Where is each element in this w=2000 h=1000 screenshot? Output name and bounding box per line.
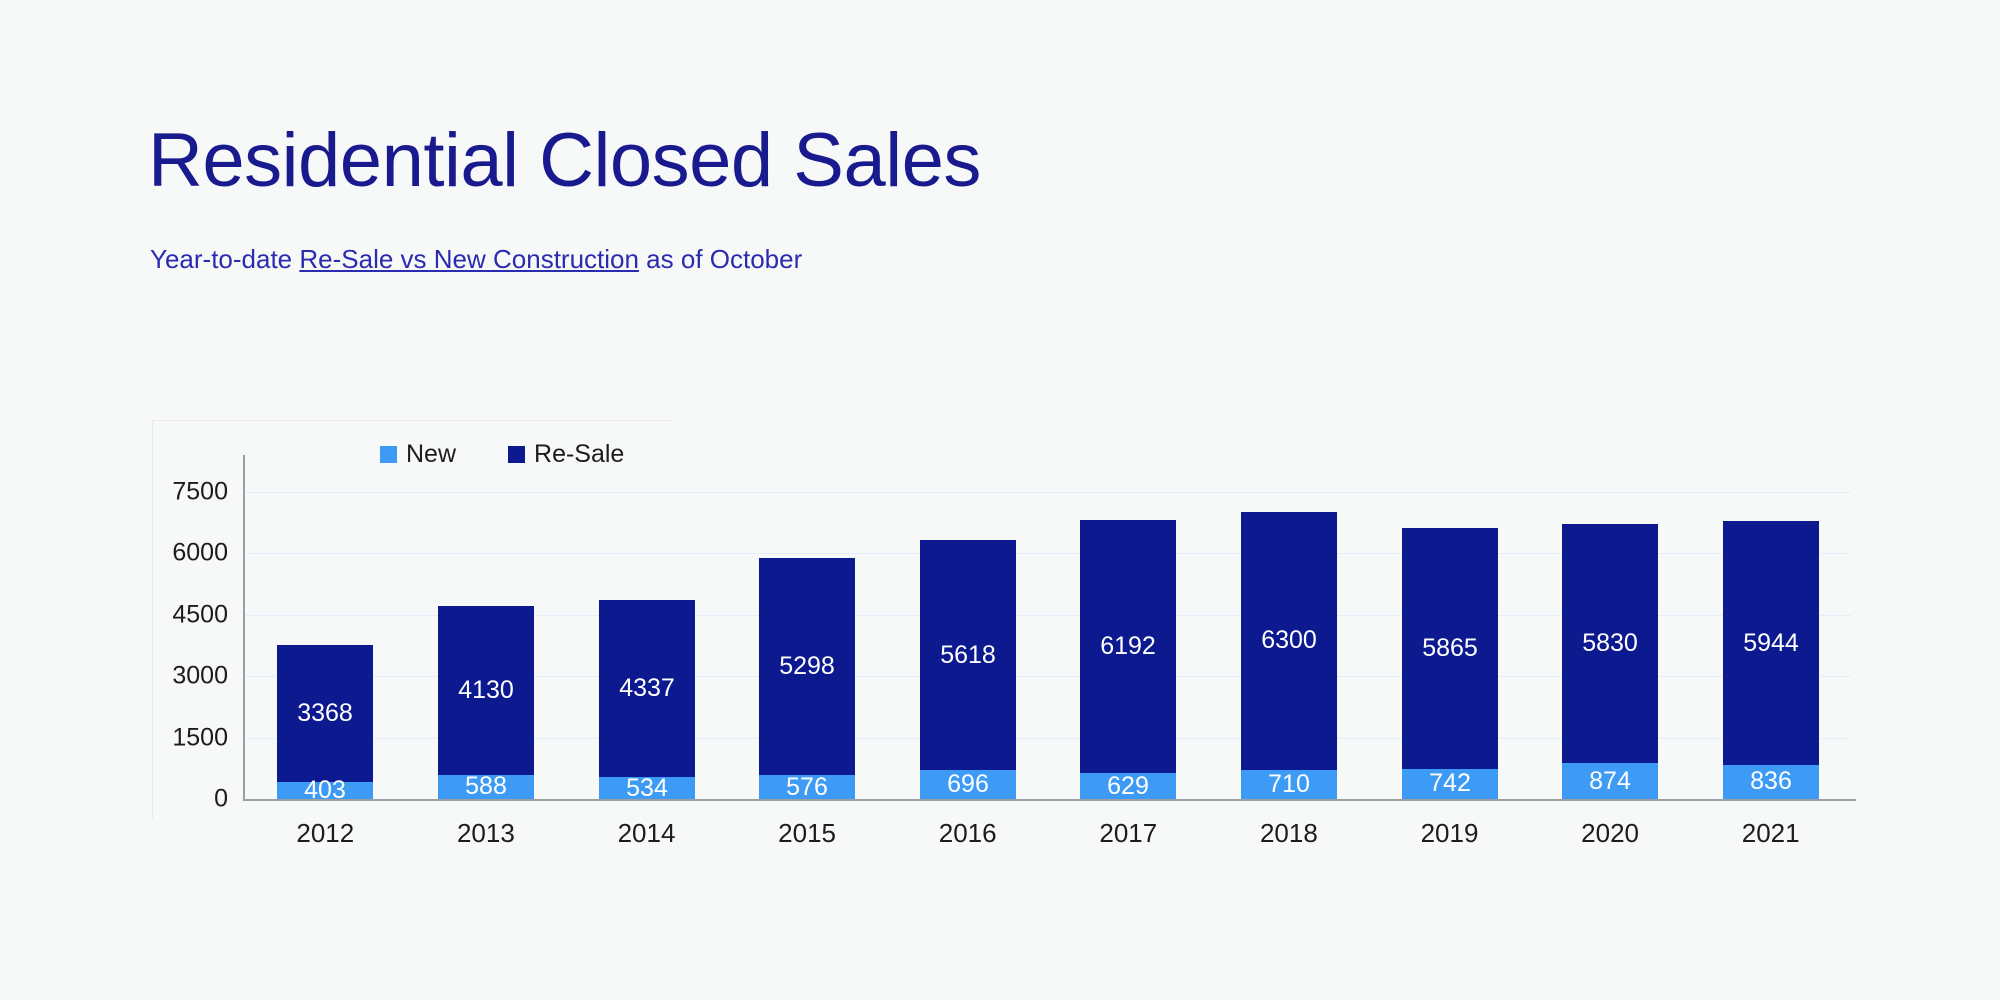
- y-axis-tick-label: 7500: [172, 477, 228, 506]
- x-axis-tick-label: 2018: [1209, 818, 1369, 849]
- y-axis-tick-label: 4500: [172, 600, 228, 629]
- x-axis-tick-label: 2020: [1530, 818, 1690, 849]
- y-axis-tick-labels: 015003000450060007500: [150, 0, 228, 1000]
- bar-segment-resale[interactable]: 3368: [277, 645, 373, 783]
- x-axis-tick-label: 2014: [567, 818, 727, 849]
- gridline: [245, 492, 1851, 493]
- page-title: Residential Closed Sales: [148, 118, 981, 204]
- bar-segment-resale[interactable]: 5830: [1562, 524, 1658, 763]
- bar-segment-new[interactable]: 696: [920, 770, 1016, 799]
- x-axis-tick-label: 2016: [888, 818, 1048, 849]
- bar-segment-new[interactable]: 836: [1723, 765, 1819, 799]
- y-axis-tick-label: 1500: [172, 723, 228, 752]
- bar-segment-resale[interactable]: 5865: [1402, 528, 1498, 768]
- x-axis-tick-label: 2021: [1691, 818, 1851, 849]
- bar-segment-resale[interactable]: 5618: [920, 540, 1016, 770]
- x-axis-tick-label: 2017: [1048, 818, 1208, 849]
- legend-swatch-resale-icon: [508, 446, 525, 463]
- x-axis-tick-label: 2015: [727, 818, 887, 849]
- x-axis-tick-label: 2013: [406, 818, 566, 849]
- bar-segment-resale[interactable]: 4130: [438, 606, 534, 775]
- bar-segment-new[interactable]: 534: [599, 777, 695, 799]
- chart-frame-top-border: [152, 420, 672, 421]
- bar-segment-new[interactable]: 874: [1562, 763, 1658, 799]
- slide-canvas: Residential Closed Sales Year-to-date Re…: [0, 0, 2000, 1000]
- bar-segment-new[interactable]: 576: [759, 775, 855, 799]
- bar-segment-new[interactable]: 588: [438, 775, 534, 799]
- y-axis-tick-label: 0: [214, 785, 228, 814]
- bar-segment-resale[interactable]: 4337: [599, 600, 695, 778]
- legend-swatch-new-icon: [380, 446, 397, 463]
- subtitle-underlined-phrase: Re-Sale vs New Construction: [299, 244, 639, 274]
- bar-segment-resale[interactable]: 5298: [759, 558, 855, 775]
- page-subtitle: Year-to-date Re-Sale vs New Construction…: [150, 243, 802, 275]
- subtitle-suffix: as of October: [639, 244, 802, 274]
- legend-item-new[interactable]: New: [380, 440, 456, 469]
- bar-segment-new[interactable]: 742: [1402, 769, 1498, 799]
- bar-segment-resale[interactable]: 6300: [1241, 512, 1337, 770]
- bar-segment-resale[interactable]: 6192: [1080, 520, 1176, 774]
- chart-legend: New Re-Sale: [380, 440, 624, 469]
- x-axis-tick-label: 2012: [245, 818, 405, 849]
- legend-item-resale[interactable]: Re-Sale: [508, 440, 624, 469]
- bar-segment-resale[interactable]: 5944: [1723, 521, 1819, 764]
- y-axis-tick-label: 3000: [172, 662, 228, 691]
- bar-segment-new[interactable]: 629: [1080, 773, 1176, 799]
- bar-segment-new[interactable]: 710: [1241, 770, 1337, 799]
- legend-label-new: New: [406, 440, 456, 469]
- y-axis-line: [243, 455, 245, 800]
- y-axis-tick-label: 6000: [172, 539, 228, 568]
- x-axis-tick-label: 2019: [1370, 818, 1530, 849]
- legend-label-resale: Re-Sale: [534, 440, 624, 469]
- bar-segment-new[interactable]: 403: [277, 782, 373, 799]
